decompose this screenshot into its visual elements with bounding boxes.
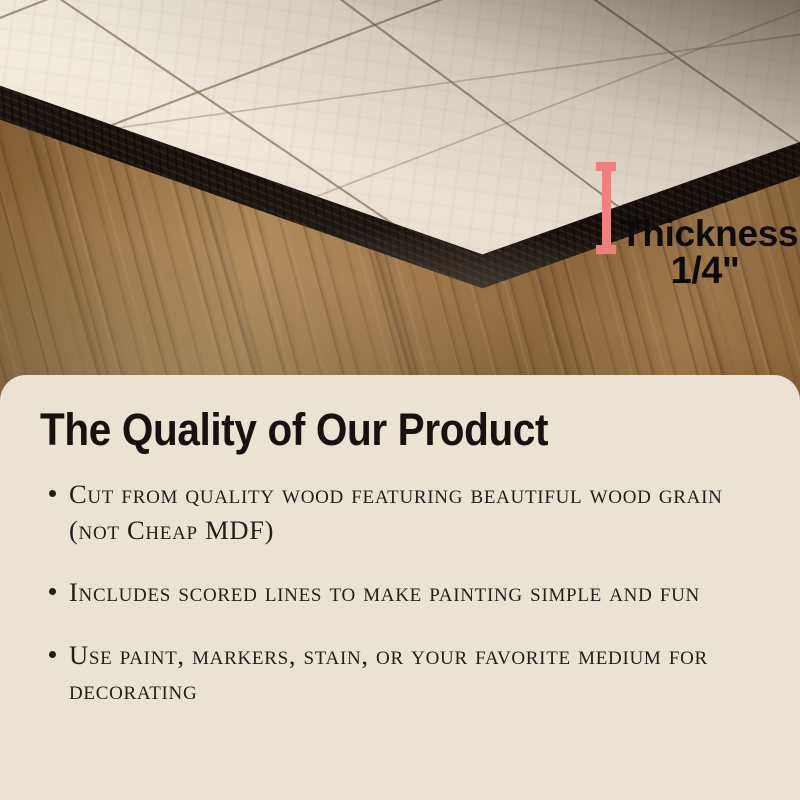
bullet-dot-icon	[49, 490, 56, 497]
infographic-canvas: Thickness 1/4" The Quality of Our Produc…	[0, 0, 800, 800]
list-item: Cut from quality wood featuring beautifu…	[40, 477, 740, 548]
list-item-label: Use paint, markers, stain, or your favor…	[69, 640, 708, 706]
list-item: Includes scored lines to make painting s…	[40, 575, 740, 611]
bullet-dot-icon	[49, 651, 56, 658]
benefit-list: Cut from quality wood featuring beautifu…	[40, 477, 760, 709]
list-item-label: Cut from quality wood featuring beautifu…	[69, 479, 723, 545]
product-photo	[0, 0, 800, 400]
photo-vignette	[0, 0, 800, 400]
quality-info-panel: The Quality of Our Product Cut from qual…	[0, 375, 800, 800]
page-title: The Quality of Our Product	[40, 405, 688, 455]
list-item-label: Includes scored lines to make painting s…	[69, 577, 700, 607]
bullet-dot-icon	[49, 588, 56, 595]
list-item: Use paint, markers, stain, or your favor…	[40, 638, 740, 709]
